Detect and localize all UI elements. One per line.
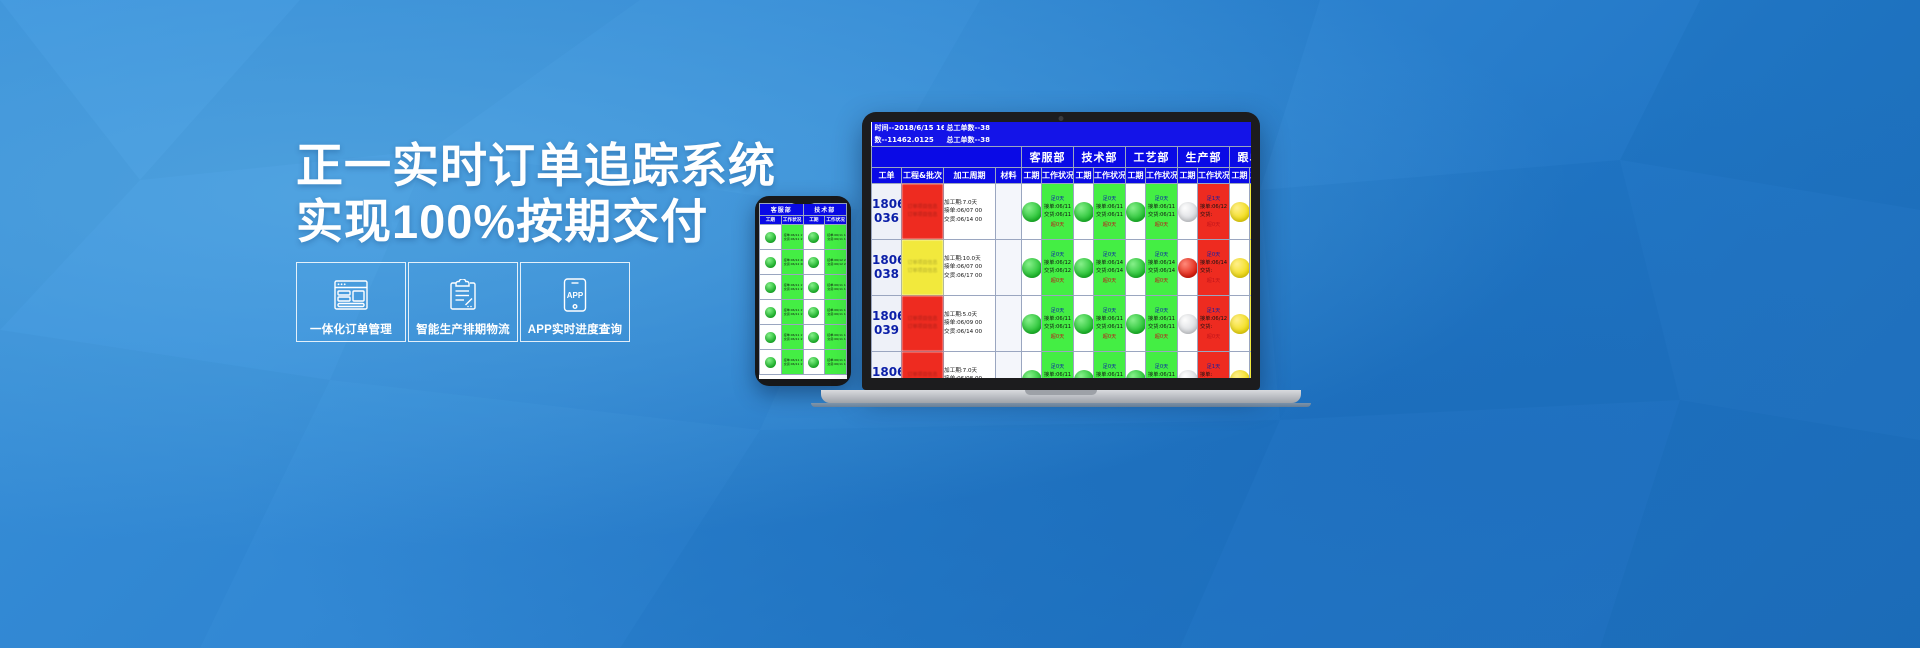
work-status-cell[interactable]: 足0天接单:06/11 17交货:06/11 17超0天 bbox=[1094, 352, 1126, 379]
page-title: 正一实时订单追踪系统 实现100%按期交付 bbox=[296, 138, 816, 251]
column-header: 工期 bbox=[1178, 168, 1198, 184]
status-grey-indicator-icon bbox=[1178, 314, 1198, 334]
status-green-indicator-icon bbox=[1022, 258, 1042, 278]
phone-screen: 客服部 技术部 工期 工作状况 工期 工作状况 接单:06/11 17交货:06… bbox=[759, 203, 847, 379]
status-green-indicator-icon bbox=[765, 357, 776, 368]
phone-col-status: 工作状况 bbox=[781, 216, 803, 225]
status-foot-over: 超0天 bbox=[1250, 220, 1251, 229]
smartphone-device: 客服部 技术部 工期 工作状况 工期 工作状况 接单:06/11 17交货:06… bbox=[755, 196, 851, 386]
phone-col-duration: 工期 bbox=[803, 216, 825, 225]
laptop-base-foot bbox=[811, 403, 1311, 407]
status-foot-over: 超1天 bbox=[1198, 276, 1229, 285]
status-green-indicator-icon bbox=[765, 257, 776, 268]
phone-status-cell[interactable]: 接单:06/11 17交货:06/11 17 bbox=[825, 325, 847, 350]
status-foot-ok: 足0天 bbox=[1146, 250, 1177, 259]
svg-text:APP: APP bbox=[567, 291, 584, 300]
status-green-indicator-icon bbox=[1126, 258, 1146, 278]
column-header: 工作状况 bbox=[1146, 168, 1178, 184]
phone-duration-cell[interactable] bbox=[803, 300, 825, 325]
status-foot-ok: 足0天 bbox=[1146, 194, 1177, 203]
status-dates: 接单:06/12 09交货: bbox=[1198, 203, 1229, 221]
phone-duration-cell[interactable] bbox=[760, 250, 782, 275]
phone-status-dates: 接单:06/12 20交货:06/12 20 bbox=[782, 257, 803, 267]
status-foot-ok: 足1天 bbox=[1198, 362, 1229, 371]
processing-cycle-cell: 加工期:7.0天接单:06/07 00交货:06/14 00 bbox=[944, 184, 996, 240]
status-foot-ok: 足0天 bbox=[1042, 250, 1073, 259]
phone-department-header: 技术部 bbox=[803, 204, 847, 216]
phone-status-cell[interactable]: 接单:06/11 17交货:06/11 17 bbox=[781, 275, 803, 300]
duration-indicator-cell[interactable] bbox=[1126, 352, 1146, 379]
production-tracking-table: 时间--2018/6/15 16:41:36 总工单数--38 数--11462… bbox=[871, 122, 1251, 378]
status-green-indicator-icon bbox=[1126, 202, 1146, 222]
column-header: 材料 bbox=[996, 168, 1022, 184]
column-header-row: 工单工程&批次加工周期材料工期工作状况工期工作状况工期工作状况工期工作状况工期工… bbox=[872, 168, 1252, 184]
status-foot-ok: 足0天 bbox=[1094, 250, 1125, 259]
status-dates: 接单:06/11 17交货:06/11 17 bbox=[1094, 203, 1125, 221]
status-yellow-indicator-icon bbox=[1230, 370, 1250, 379]
laptop-device: 时间--2018/6/15 16:41:36 总工单数--38 数--11462… bbox=[862, 112, 1311, 407]
status-foot-ok: 足1天 bbox=[1198, 194, 1229, 203]
status-grey-indicator-icon bbox=[1178, 370, 1198, 379]
status-green-indicator-icon bbox=[765, 232, 776, 243]
department-header-production: 生产部 bbox=[1178, 147, 1230, 168]
department-header-order-follow: 跟单部 bbox=[1230, 147, 1252, 168]
duration-indicator-cell[interactable] bbox=[1230, 240, 1250, 296]
phone-status-dates: 接单:06/12 20交货:06/12 20 bbox=[825, 257, 846, 267]
meta-code: 数--11462.0125 bbox=[872, 134, 944, 147]
phone-status-dates: 接单:06/11 17交货:06/11 17 bbox=[825, 307, 846, 317]
status-foot-ok: 足0天 bbox=[1094, 306, 1125, 315]
department-header-technology: 技术部 bbox=[1074, 147, 1126, 168]
phone-status-cell[interactable]: 接单:06/12 20交货:06/12 20 bbox=[781, 250, 803, 275]
status-foot-ok: 足0天 bbox=[1042, 194, 1073, 203]
work-status-cell[interactable]: 足0天接单:06/14 04交货:06/14 04超0天 bbox=[1146, 240, 1178, 296]
work-status-cell[interactable]: 足0天接单:06/11 17交货:06/11 17超0天 bbox=[1146, 296, 1178, 352]
hero-copy: 正一实时订单追踪系统 实现100%按期交付 bbox=[296, 138, 816, 251]
phone-status-cell[interactable]: 接单:06/11 17交货:06/11 17 bbox=[781, 300, 803, 325]
status-foot-ok: 足1天 bbox=[1250, 306, 1251, 315]
clipboard-checklist-icon bbox=[448, 275, 478, 315]
status-foot-over: 超0天 bbox=[1094, 276, 1125, 285]
work-status-cell[interactable]: 足1天接单:交货:超0天 bbox=[1198, 352, 1230, 379]
table-row[interactable]: 1806036订单项目信息订单项目信息加工期:7.0天接单:06/07 00交货… bbox=[872, 184, 1252, 240]
status-foot-ok: 足0天 bbox=[1042, 362, 1073, 371]
table-body: 1806036订单项目信息订单项目信息加工期:7.0天接单:06/07 00交货… bbox=[872, 184, 1252, 379]
duration-indicator-cell[interactable] bbox=[1022, 240, 1042, 296]
status-green-indicator-icon bbox=[1074, 370, 1094, 379]
work-status-cell[interactable]: 足0天接单:06/11 17交货:06/11 17超0天 bbox=[1094, 184, 1126, 240]
processing-cycle-cell: 加工期:7.0天接单:06/08 00交货:06/15 00 bbox=[944, 352, 996, 379]
feature-box-list: 一体化订单管理 智能生产排期物流 bbox=[296, 262, 632, 342]
status-dates: 接单:06/11 17交货:06/11 17 bbox=[1146, 371, 1177, 378]
status-foot-ok: 足1天 bbox=[1250, 362, 1251, 371]
laptop-dashboard: 时间--2018/6/15 16:41:36 总工单数--38 数--11462… bbox=[871, 122, 1251, 378]
feature-label: 智能生产排期物流 bbox=[416, 321, 510, 337]
work-status-cell[interactable]: 足0天接单:06/14 04交货:06/14 04超0天 bbox=[1094, 240, 1126, 296]
status-green-indicator-icon bbox=[808, 232, 819, 243]
phone-status-dates: 接单:06/11 17交货:06/11 17 bbox=[782, 332, 803, 342]
department-header-row: 客服部 技术部 工艺部 生产部 跟单部 bbox=[872, 147, 1252, 168]
phone-department-header-row: 客服部 技术部 bbox=[760, 204, 847, 216]
work-order-cell: 1806040 bbox=[872, 352, 902, 379]
status-foot-over: 超0天 bbox=[1146, 332, 1177, 341]
status-green-indicator-icon bbox=[808, 357, 819, 368]
phone-status-dates: 接单:06/11 17交货:06/11 17 bbox=[825, 232, 846, 242]
phone-table-row[interactable]: 接单:06/11 17交货:06/11 17接单:06/11 17交货:06/1… bbox=[760, 275, 847, 300]
column-header: 加工周期 bbox=[944, 168, 996, 184]
column-header: 工作状况 bbox=[1094, 168, 1126, 184]
phone-status-dates: 接单:06/11 17交货:06/11 17 bbox=[825, 332, 846, 342]
status-grey-indicator-icon bbox=[1178, 202, 1198, 222]
column-header: 工程&批次 bbox=[902, 168, 944, 184]
status-foot-over: 超0天 bbox=[1042, 276, 1073, 285]
status-foot-over: 超0天 bbox=[1094, 332, 1125, 341]
phone-dashboard: 客服部 技术部 工期 工作状况 工期 工作状况 接单:06/11 17交货:06… bbox=[759, 203, 847, 375]
processing-cycle-cell: 加工期:5.0天接单:06/09 00交货:06/14 00 bbox=[944, 296, 996, 352]
phone-status-cell[interactable]: 接单:06/11 17交货:06/11 17 bbox=[825, 275, 847, 300]
status-dates: 接单:交货: bbox=[1250, 371, 1251, 378]
phone-table-body: 接单:06/11 17交货:06/11 17接单:06/11 17交货:06/1… bbox=[760, 225, 847, 375]
status-dates: 接单:06/14 04交货:06/14 04 bbox=[1146, 259, 1177, 277]
phone-status-dates: 接单:06/11 17交货:06/11 17 bbox=[782, 307, 803, 317]
duration-indicator-cell[interactable] bbox=[1074, 240, 1094, 296]
status-green-indicator-icon bbox=[1126, 314, 1146, 334]
work-status-cell[interactable]: 足0天接单:06/11 17交货:06/11 17超0天 bbox=[1042, 184, 1074, 240]
status-dates: 接单:06/11 17交货:06/11 17 bbox=[1094, 315, 1125, 333]
duration-indicator-cell[interactable] bbox=[1126, 184, 1146, 240]
department-header-customer-service: 客服部 bbox=[1022, 147, 1074, 168]
phone-table-row[interactable]: 接单:06/11 17交货:06/11 17接单:06/11 17交货:06/1… bbox=[760, 300, 847, 325]
duration-indicator-cell[interactable] bbox=[1178, 352, 1198, 379]
feature-label: 一体化订单管理 bbox=[310, 321, 392, 337]
project-batch-cell: 订单项目信息订单项目信息 bbox=[902, 240, 944, 296]
material-cell bbox=[996, 240, 1022, 296]
status-green-indicator-icon bbox=[808, 332, 819, 343]
column-header: 工期 bbox=[1074, 168, 1094, 184]
status-foot-ok: 足0天 bbox=[1094, 362, 1125, 371]
status-foot-ok: 足0天 bbox=[1146, 362, 1177, 371]
feature-box-app-progress-query[interactable]: APP APP实时进度查询 bbox=[520, 262, 630, 342]
status-foot-ok: 足1天 bbox=[1250, 250, 1251, 259]
phone-duration-cell[interactable] bbox=[760, 275, 782, 300]
work-status-cell[interactable]: 足1天接单:交货:超0天 bbox=[1250, 296, 1252, 352]
phone-status-cell[interactable]: 接单:06/11 17交货:06/11 17 bbox=[825, 225, 847, 250]
status-green-indicator-icon bbox=[1022, 370, 1042, 379]
phone-table-row[interactable]: 接单:06/12 20交货:06/12 20接单:06/12 20交货:06/1… bbox=[760, 250, 847, 275]
status-foot-ok: 足0天 bbox=[1146, 306, 1177, 315]
status-foot-ok: 足0天 bbox=[1198, 250, 1229, 259]
phone-duration-cell[interactable] bbox=[803, 250, 825, 275]
status-foot-ok: 足0天 bbox=[1042, 306, 1073, 315]
status-dates: 接单:06/11 17交货:06/11 17 bbox=[1042, 203, 1073, 221]
work-status-cell[interactable]: 足1天接单:06/12 09交货:超0天 bbox=[1198, 184, 1230, 240]
status-dates: 接单:06/14 04交货:06/14 04 bbox=[1094, 259, 1125, 277]
status-green-indicator-icon bbox=[765, 282, 776, 293]
phone-table-row[interactable]: 接单:06/11 17交货:06/11 17接单:06/11 17交货:06/1… bbox=[760, 350, 847, 375]
duration-indicator-cell[interactable] bbox=[1178, 184, 1198, 240]
status-green-indicator-icon bbox=[1022, 314, 1042, 334]
status-dates: 接单:06/11 17交货:06/11 17 bbox=[1146, 203, 1177, 221]
status-foot-over: 超0天 bbox=[1198, 332, 1229, 341]
duration-indicator-cell[interactable] bbox=[1178, 296, 1198, 352]
status-green-indicator-icon bbox=[1022, 202, 1042, 222]
phone-dashboard-table: 客服部 技术部 工期 工作状况 工期 工作状况 接单:06/11 17交货:06… bbox=[759, 203, 847, 375]
column-header: 工作状况 bbox=[1198, 168, 1230, 184]
duration-indicator-cell[interactable] bbox=[1230, 352, 1250, 379]
duration-indicator-cell[interactable] bbox=[1126, 296, 1146, 352]
table-row[interactable]: 1806039订单项目信息订单项目信息加工期:5.0天接单:06/09 00交货… bbox=[872, 296, 1252, 352]
table-row[interactable]: 1806040订单项目信息订单项目信息加工期:7.0天接单:06/08 00交货… bbox=[872, 352, 1252, 379]
work-order-cell: 1806038 bbox=[872, 240, 902, 296]
phone-duration-cell[interactable] bbox=[803, 325, 825, 350]
meta-timestamp: 时间--2018/6/15 16:41:36 bbox=[872, 122, 944, 134]
phone-status-dates: 接单:06/11 17交货:06/11 17 bbox=[825, 357, 846, 367]
laptop-base bbox=[821, 390, 1301, 403]
headline-line-2: 实现100%按期交付 bbox=[296, 194, 816, 250]
status-dates: 接单:交货: bbox=[1250, 203, 1251, 221]
phone-duration-cell[interactable] bbox=[803, 275, 825, 300]
material-cell bbox=[996, 352, 1022, 379]
meta-total-orders-2: 总工单数--38 bbox=[944, 134, 1022, 147]
status-green-indicator-icon bbox=[1126, 370, 1146, 379]
status-dates: 接单:06/14 04交货: bbox=[1198, 259, 1229, 277]
column-header: 工期 bbox=[1022, 168, 1042, 184]
duration-indicator-cell[interactable] bbox=[1074, 184, 1094, 240]
phone-duration-cell[interactable] bbox=[760, 350, 782, 375]
column-header: 工作状况 bbox=[1250, 168, 1252, 184]
phone-duration-cell[interactable] bbox=[760, 325, 782, 350]
mobile-app-icon: APP bbox=[563, 275, 587, 315]
laptop-lid: 时间--2018/6/15 16:41:36 总工单数--38 数--11462… bbox=[862, 112, 1260, 390]
status-dates: 接单:06/12 20交货:06/12 20 bbox=[1042, 259, 1073, 277]
work-status-cell[interactable]: 足0天接单:06/11 17交货:06/11 17超0天 bbox=[1146, 352, 1178, 379]
work-status-cell[interactable]: 足1天接单:06/12 09交货:超0天 bbox=[1198, 296, 1230, 352]
table-row[interactable]: 1806038订单项目信息订单项目信息加工期:10.0天接单:06/07 00交… bbox=[872, 240, 1252, 296]
phone-col-duration: 工期 bbox=[760, 216, 782, 225]
column-header: 工作状况 bbox=[1042, 168, 1074, 184]
meta-total-orders: 总工单数--38 bbox=[944, 122, 1022, 134]
work-status-cell[interactable]: 足0天接单:06/11 17交货:06/11 17超0天 bbox=[1094, 296, 1126, 352]
department-header-process: 工艺部 bbox=[1126, 147, 1178, 168]
phone-status-cell[interactable]: 接单:06/11 17交货:06/11 17 bbox=[781, 225, 803, 250]
column-header: 工期 bbox=[1230, 168, 1250, 184]
duration-indicator-cell[interactable] bbox=[1022, 184, 1042, 240]
dashboard-layout-icon bbox=[334, 275, 368, 315]
phone-table-row[interactable]: 接单:06/11 17交货:06/11 17接单:06/11 17交货:06/1… bbox=[760, 225, 847, 250]
status-green-indicator-icon bbox=[1074, 202, 1094, 222]
work-order-cell: 1806039 bbox=[872, 296, 902, 352]
phone-status-cell[interactable]: 接单:06/11 17交货:06/11 17 bbox=[825, 350, 847, 375]
status-dates: 接单:06/12 09交货: bbox=[1198, 315, 1229, 333]
status-foot-ok: 足1天 bbox=[1250, 194, 1251, 203]
phone-status-cell[interactable]: 接单:06/12 20交货:06/12 20 bbox=[825, 250, 847, 275]
duration-indicator-cell[interactable] bbox=[1022, 352, 1042, 379]
phone-status-dates: 接单:06/11 17交货:06/11 17 bbox=[782, 232, 803, 242]
project-batch-cell: 订单项目信息订单项目信息 bbox=[902, 296, 944, 352]
status-dates: 接单:06/11 17交货:06/11 17 bbox=[1042, 315, 1073, 333]
status-foot-ok: 足1天 bbox=[1198, 306, 1229, 315]
status-yellow-indicator-icon bbox=[1230, 314, 1250, 334]
duration-indicator-cell[interactable] bbox=[1178, 240, 1198, 296]
status-green-indicator-icon bbox=[1074, 314, 1094, 334]
dashboard-meta-row: 时间--2018/6/15 16:41:36 总工单数--38 bbox=[872, 122, 1252, 134]
phone-table-row[interactable]: 接单:06/11 17交货:06/11 17接单:06/11 17交货:06/1… bbox=[760, 325, 847, 350]
work-status-cell[interactable]: 足1天接单:交货:超0天 bbox=[1250, 352, 1252, 379]
phone-col-status: 工作状况 bbox=[825, 216, 847, 225]
material-cell bbox=[996, 184, 1022, 240]
status-dates: 接单:交货: bbox=[1250, 259, 1251, 277]
laptop-screen: 时间--2018/6/15 16:41:36 总工单数--38 数--11462… bbox=[871, 122, 1251, 378]
status-green-indicator-icon bbox=[765, 307, 776, 318]
status-dates: 接单:交货: bbox=[1250, 315, 1251, 333]
status-foot-ok: 足0天 bbox=[1094, 194, 1125, 203]
project-batch-cell: 订单项目信息订单项目信息 bbox=[902, 352, 944, 379]
phone-duration-cell[interactable] bbox=[803, 225, 825, 250]
phone-status-cell[interactable]: 接单:06/11 17交货:06/11 17 bbox=[781, 350, 803, 375]
processing-cycle-cell: 加工期:10.0天接单:06/07 00交货:06/17 00 bbox=[944, 240, 996, 296]
feature-box-production-scheduling[interactable]: 智能生产排期物流 bbox=[408, 262, 518, 342]
duration-indicator-cell[interactable] bbox=[1074, 296, 1094, 352]
work-order-cell: 1806036 bbox=[872, 184, 902, 240]
phone-status-cell[interactable]: 接单:06/11 17交货:06/11 17 bbox=[781, 325, 803, 350]
work-status-cell[interactable]: 足0天接单:06/11 17交货:06/11 17超0天 bbox=[1146, 184, 1178, 240]
phone-status-dates: 接单:06/11 17交货:06/11 17 bbox=[782, 282, 803, 292]
column-header: 工单 bbox=[872, 168, 902, 184]
project-batch-cell: 订单项目信息订单项目信息 bbox=[902, 184, 944, 240]
banner-stage: 正一实时订单追踪系统 实现100%按期交付 一体化订单管理 bbox=[0, 0, 1920, 648]
department-spacer bbox=[872, 147, 1022, 168]
work-status-cell[interactable]: 足0天接单:06/14 04交货:超1天 bbox=[1198, 240, 1230, 296]
status-dates: 接单:06/11 17交货:06/11 17 bbox=[1042, 371, 1073, 378]
status-foot-over: 超0天 bbox=[1146, 276, 1177, 285]
duration-indicator-cell[interactable] bbox=[1230, 296, 1250, 352]
status-green-indicator-icon bbox=[765, 332, 776, 343]
status-green-indicator-icon bbox=[1074, 258, 1094, 278]
phone-department-header: 客服部 bbox=[760, 204, 804, 216]
status-yellow-indicator-icon bbox=[1230, 258, 1250, 278]
duration-indicator-cell[interactable] bbox=[1126, 240, 1146, 296]
phone-duration-cell[interactable] bbox=[760, 300, 782, 325]
work-status-cell[interactable]: 足0天接单:06/11 17交货:06/11 17超0天 bbox=[1042, 296, 1074, 352]
status-foot-over: 超0天 bbox=[1042, 220, 1073, 229]
status-foot-over: 超0天 bbox=[1198, 220, 1229, 229]
work-status-cell[interactable]: 足0天接单:06/11 17交货:06/11 17超0天 bbox=[1042, 352, 1074, 379]
status-foot-over: 超0天 bbox=[1094, 220, 1125, 229]
work-status-cell[interactable]: 足1天接单:交货:超0天 bbox=[1250, 184, 1252, 240]
phone-status-dates: 接单:06/11 17交货:06/11 17 bbox=[782, 357, 803, 367]
status-dates: 接单:交货: bbox=[1198, 371, 1229, 378]
phone-duration-cell[interactable] bbox=[803, 350, 825, 375]
phone-duration-cell[interactable] bbox=[760, 225, 782, 250]
status-yellow-indicator-icon bbox=[1230, 202, 1250, 222]
duration-indicator-cell[interactable] bbox=[1074, 352, 1094, 379]
status-dates: 接单:06/11 17交货:06/11 17 bbox=[1094, 371, 1125, 378]
phone-status-cell[interactable]: 接单:06/11 17交货:06/11 17 bbox=[825, 300, 847, 325]
duration-indicator-cell[interactable] bbox=[1022, 296, 1042, 352]
status-foot-over: 超0天 bbox=[1042, 332, 1073, 341]
phone-status-dates: 接单:06/11 17交货:06/11 17 bbox=[825, 282, 846, 292]
column-header: 工期 bbox=[1126, 168, 1146, 184]
status-dates: 接单:06/11 17交货:06/11 17 bbox=[1146, 315, 1177, 333]
status-green-indicator-icon bbox=[808, 257, 819, 268]
status-foot-over: 超0天 bbox=[1146, 220, 1177, 229]
status-green-indicator-icon bbox=[808, 282, 819, 293]
status-red-indicator-icon bbox=[1178, 258, 1198, 278]
material-cell bbox=[996, 296, 1022, 352]
status-green-indicator-icon bbox=[808, 307, 819, 318]
phone-column-header-row: 工期 工作状况 工期 工作状况 bbox=[760, 216, 847, 225]
work-status-cell[interactable]: 足1天接单:交货:超0天 bbox=[1250, 240, 1252, 296]
duration-indicator-cell[interactable] bbox=[1230, 184, 1250, 240]
feature-box-order-management[interactable]: 一体化订单管理 bbox=[296, 262, 406, 342]
headline-line-1: 正一实时订单追踪系统 bbox=[296, 139, 776, 192]
feature-label: APP实时进度查询 bbox=[528, 321, 622, 337]
status-foot-over: 超0天 bbox=[1250, 332, 1251, 341]
work-status-cell[interactable]: 足0天接单:06/12 20交货:06/12 20超0天 bbox=[1042, 240, 1074, 296]
status-foot-over: 超0天 bbox=[1250, 276, 1251, 285]
